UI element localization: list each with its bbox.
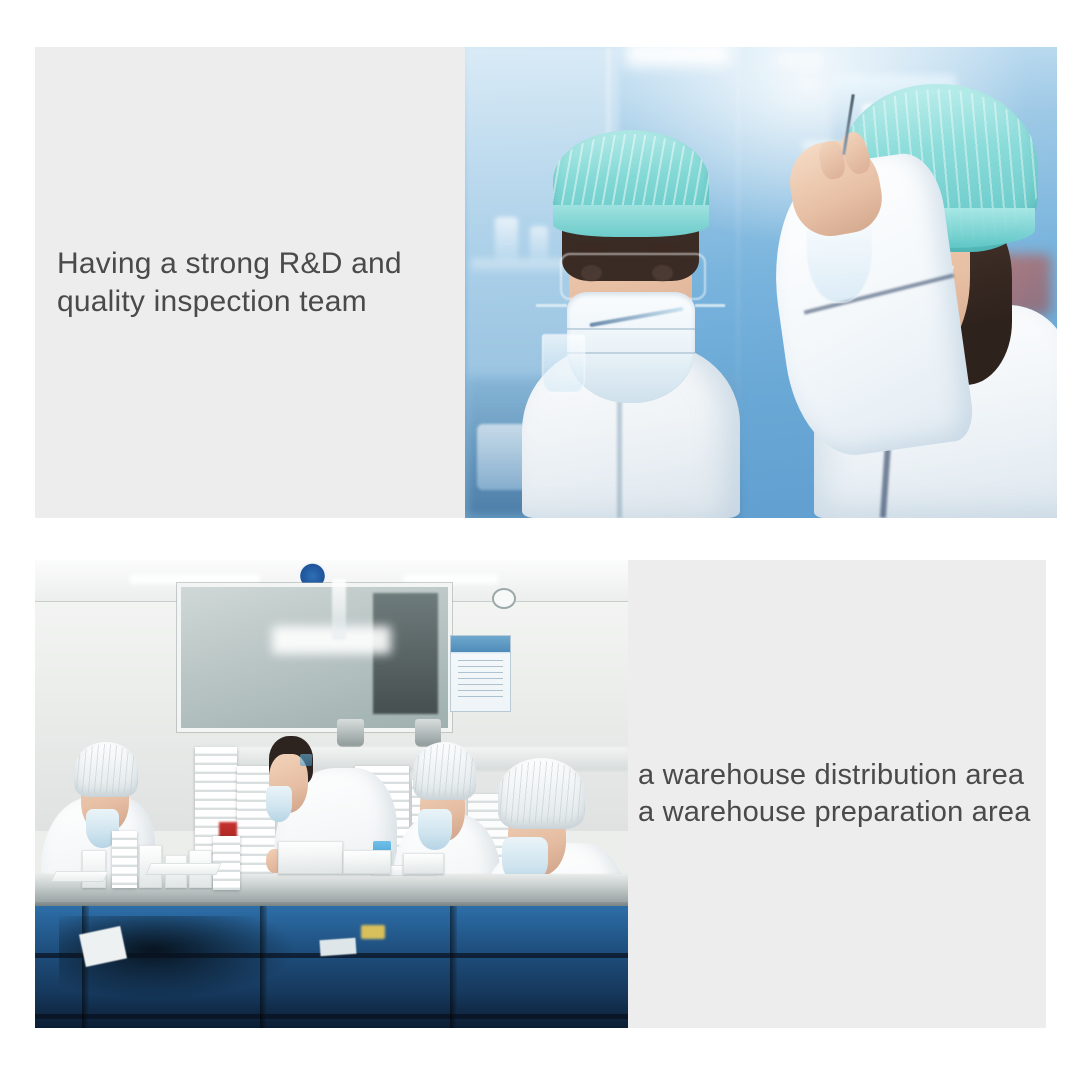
poster-canvas: Having a strong R&D and quality inspecti… xyxy=(0,0,1080,1080)
top-caption-panel: Having a strong R&D and quality inspecti… xyxy=(35,47,465,518)
table-box-lid-1 xyxy=(50,871,109,882)
lab-mask-pleat-1 xyxy=(567,328,695,330)
lab-ceiling-light-1 xyxy=(625,47,732,66)
table-flat-box-3 xyxy=(403,853,445,874)
table-leg-2 xyxy=(260,906,267,1028)
lab-ceiling-light-2 xyxy=(773,52,826,66)
wall-notice-board xyxy=(450,635,511,712)
bottom-section: a warehouse distribution area a warehous… xyxy=(35,560,1046,1028)
hanging-cable xyxy=(332,579,347,640)
wall-clock-icon xyxy=(492,588,516,609)
worker-1-hairnet-mesh xyxy=(74,744,138,793)
warehouse-scene xyxy=(35,560,628,1028)
worker-4-hairnet-mesh xyxy=(498,761,584,823)
lab-quality-inspection-photo xyxy=(465,47,1057,518)
lab-technician-left xyxy=(512,122,749,518)
worker-3-hairnet-mesh xyxy=(413,744,476,796)
lab-mask-strap-left xyxy=(536,304,567,307)
warehouse-packing-photo xyxy=(35,560,628,1028)
lab-cap-band-left xyxy=(553,205,709,237)
table-box-stack-1 xyxy=(112,831,137,887)
worker-2-badge xyxy=(300,754,312,765)
worker-2-mask xyxy=(266,786,292,822)
table-rail-2 xyxy=(35,1014,628,1019)
table-leg-3 xyxy=(450,906,457,1028)
table-flat-box-1 xyxy=(278,841,343,874)
lab-scene xyxy=(465,47,1057,518)
wall-notice-text-lines xyxy=(458,660,503,702)
table-leg-1 xyxy=(82,906,89,1028)
lab-mask-pleat-2 xyxy=(567,352,695,354)
table-flat-box-2 xyxy=(343,850,390,873)
yellow-marker-under-table xyxy=(361,925,385,939)
paper-under-table-2 xyxy=(319,938,356,957)
bottom-caption-line-1: a warehouse distribution area xyxy=(638,757,1038,794)
top-caption-line-1: Having a strong R&D and xyxy=(57,245,455,283)
table-box-lid-2 xyxy=(145,863,222,875)
bottom-caption-line-2: a warehouse preparation area xyxy=(638,794,1038,831)
worker-3-mask xyxy=(418,809,452,849)
lab-beaker xyxy=(542,334,585,393)
lab-mask-strap-right xyxy=(695,304,726,307)
top-caption-line-2: quality inspection team xyxy=(57,283,455,321)
top-section: Having a strong R&D and quality inspecti… xyxy=(35,47,1057,518)
bottom-caption-panel: a warehouse distribution area a warehous… xyxy=(628,560,1046,1028)
